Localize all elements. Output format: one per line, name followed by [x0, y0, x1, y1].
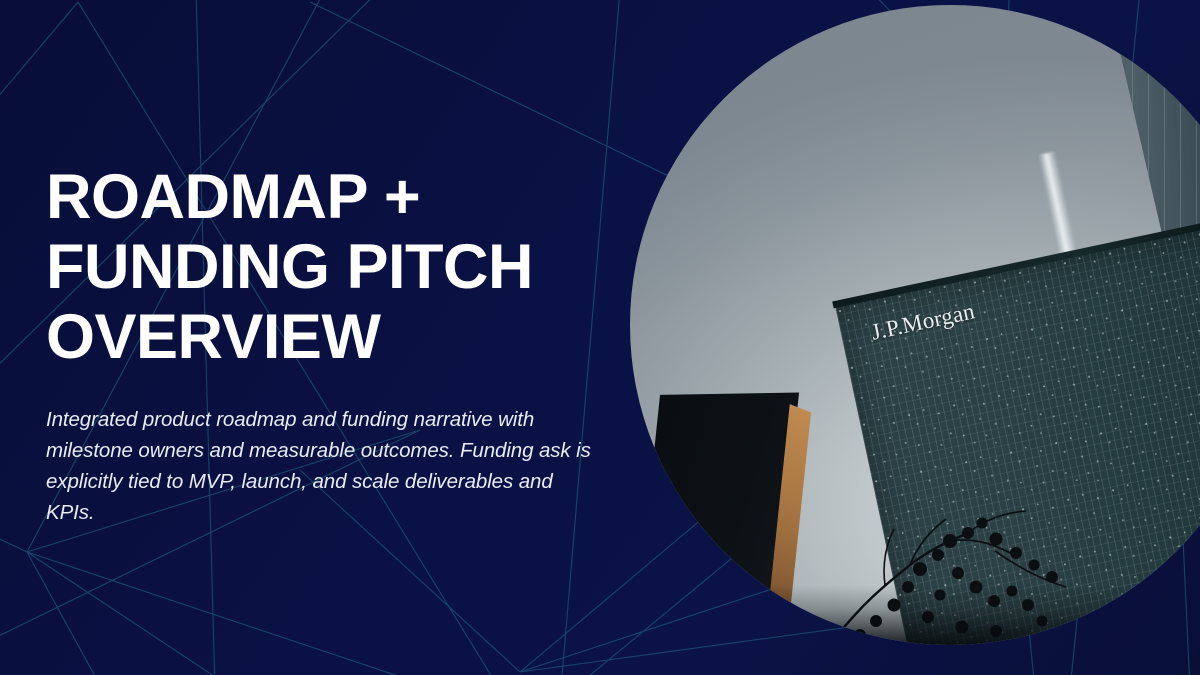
hero-photo-circle: J.P.Morgan: [630, 5, 1200, 645]
hero-photo: J.P.Morgan: [630, 5, 1200, 645]
photo-base-shadow: [630, 585, 1200, 645]
page-title: ROADMAP + FUNDING PITCH OVERVIEW: [46, 163, 646, 373]
slide-root: ROADMAP + FUNDING PITCH OVERVIEW Integra…: [0, 0, 1200, 675]
title-block: ROADMAP + FUNDING PITCH OVERVIEW Integra…: [46, 163, 646, 528]
slide-subtitle: Integrated product roadmap and funding n…: [46, 404, 606, 529]
